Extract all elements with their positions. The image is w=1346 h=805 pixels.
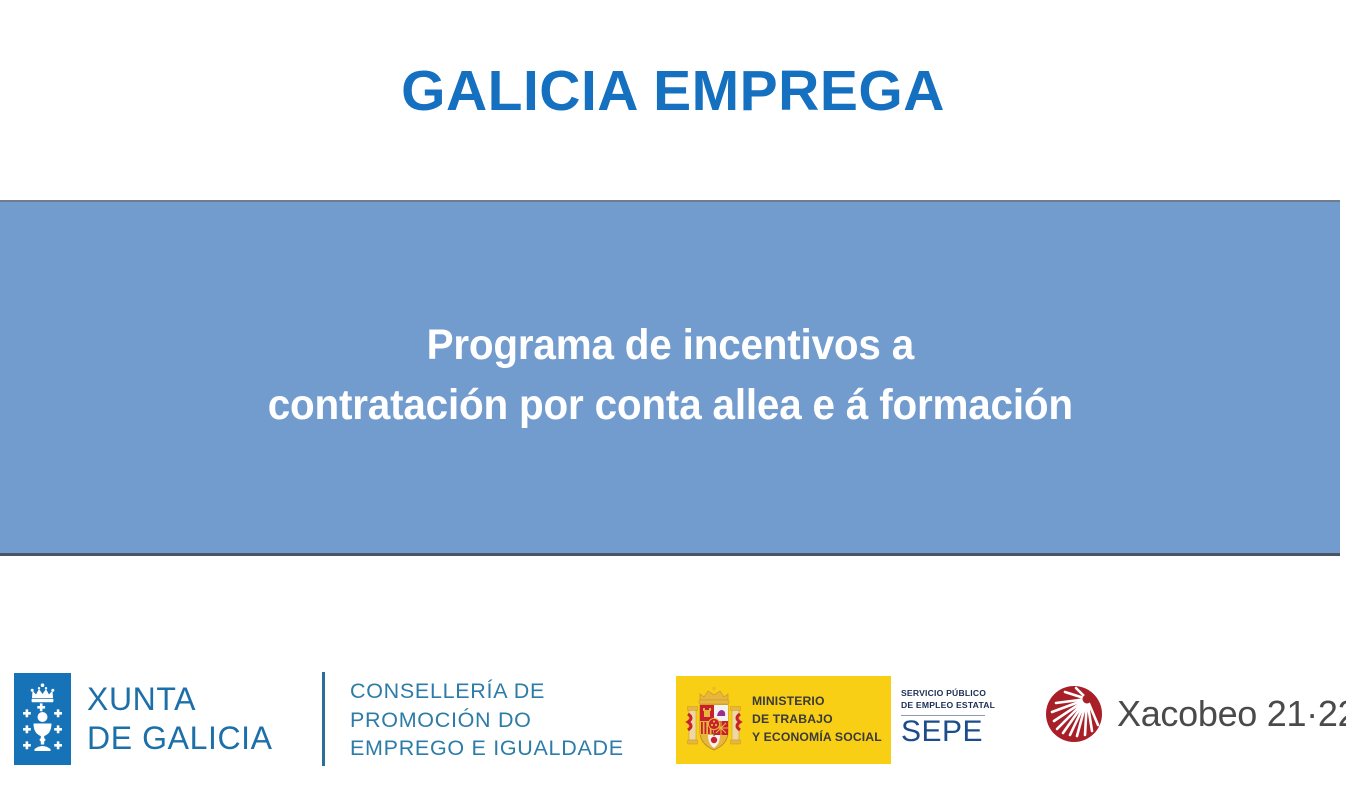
xunta-wordmark: XUNTA DE GALICIA — [87, 680, 273, 758]
sepe-ministry-logo: MINISTERIO DE TRABAJO Y ECONOMÍA SOCIAL … — [676, 676, 992, 764]
subtitle-banner: Programa de incentivos a contratación po… — [0, 200, 1340, 556]
scallop-shell-icon — [1043, 683, 1105, 745]
sepe-descriptor-line-1: SERVICIO PÚBLICO — [901, 688, 986, 700]
ministry-line-2: DE TRABAJO — [752, 711, 882, 729]
banner-text-block: Programa de incentivos a contratación po… — [267, 316, 1072, 439]
conselleria-line-1: CONSELLERÍA DE — [350, 677, 624, 706]
galicia-coat-of-arms-icon — [14, 673, 71, 765]
banner-line-2: contratación por conta allea e á formaci… — [267, 376, 1072, 435]
sepe-descriptor: SERVICIO PÚBLICO DE EMPLEO ESTATAL — [901, 688, 986, 711]
conselleria-line-2: PROMOCIÓN DO — [350, 706, 624, 735]
xacobeo-logo: Xacobeo 21·22 — [1043, 683, 1346, 745]
banner-line-1: Programa de incentivos a — [267, 316, 1072, 375]
xacobeo-wordmark: Xacobeo 21·22 — [1117, 693, 1346, 735]
logo-divider — [322, 672, 325, 766]
xunta-de-galicia-logo: XUNTA DE GALICIA — [14, 673, 273, 765]
ministry-line-1: MINISTERIO — [752, 693, 882, 711]
conselleria-line-3: EMPREGO E IGUALDADE — [350, 734, 624, 763]
sepe-descriptor-line-2: DE EMPLEO ESTATAL — [901, 700, 986, 712]
page-title: GALICIA EMPREGA — [0, 62, 1346, 122]
xunta-line-1: XUNTA — [87, 680, 273, 719]
ministry-wordmark: MINISTERIO DE TRABAJO Y ECONOMÍA SOCIAL — [752, 693, 882, 746]
conselleria-wordmark: CONSELLERÍA DE PROMOCIÓN DO EMPREGO E IG… — [350, 677, 624, 763]
sepe-acronym: SEPE — [901, 717, 986, 747]
xunta-line-2: DE GALICIA — [87, 719, 273, 758]
footer-logo-strip: XUNTA DE GALICIA CONSELLERÍA DE PROMOCIÓ… — [0, 655, 1346, 805]
sepe-white-panel: SERVICIO PÚBLICO DE EMPLEO ESTATAL SEPE — [891, 676, 992, 764]
ministry-yellow-panel: MINISTERIO DE TRABAJO Y ECONOMÍA SOCIAL — [676, 676, 891, 764]
ministry-line-3: Y ECONOMÍA SOCIAL — [752, 729, 882, 747]
spain-coat-of-arms-icon — [684, 684, 744, 756]
